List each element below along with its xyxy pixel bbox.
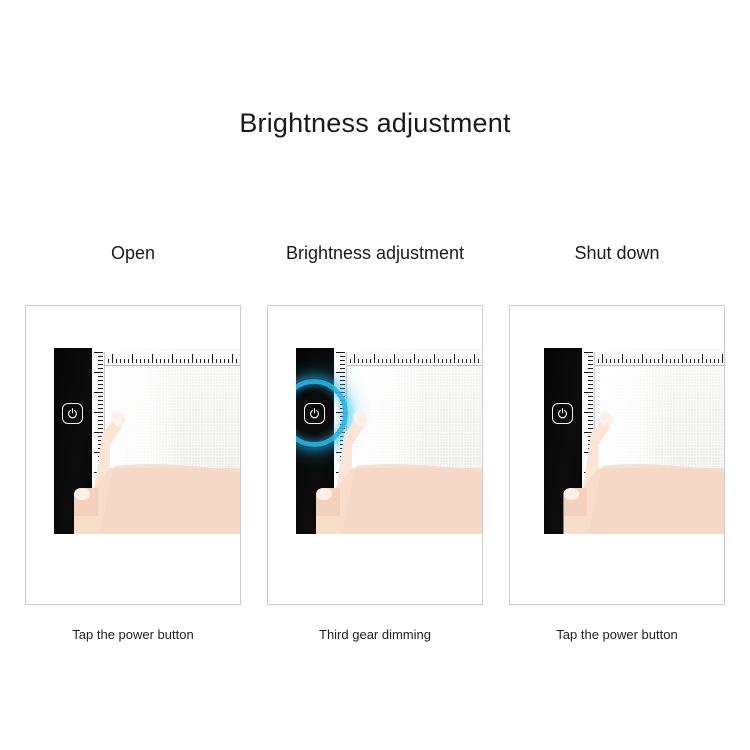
light-pad-surface — [582, 348, 725, 534]
ruler-horizontal — [582, 352, 725, 366]
power-icon — [557, 408, 568, 419]
ruler-vertical — [582, 352, 595, 534]
light-pad-surface — [92, 348, 240, 534]
step-column-brightness: Brightness adjustment — [264, 240, 486, 670]
power-button[interactable] — [552, 403, 573, 424]
step-card[interactable] — [509, 305, 725, 605]
power-button[interactable] — [304, 403, 325, 424]
step-caption: Third gear dimming — [319, 627, 431, 642]
page-title: Brightness adjustment — [0, 108, 750, 139]
ruler-vertical — [334, 352, 347, 534]
steps-row: Open — [0, 240, 750, 670]
ruler-horizontal — [334, 352, 482, 366]
device-bezel — [544, 348, 582, 534]
step-card[interactable] — [25, 305, 241, 605]
step-column-open: Open — [22, 240, 244, 670]
pad-sheen — [334, 348, 426, 534]
pad-sheen — [582, 348, 671, 534]
light-pad-photo — [296, 348, 482, 534]
power-button[interactable] — [62, 403, 83, 424]
step-heading: Open — [111, 240, 155, 266]
step-caption: Tap the power button — [556, 627, 677, 642]
light-pad-photo — [544, 348, 725, 534]
device-bezel — [54, 348, 92, 534]
step-caption: Tap the power button — [72, 627, 193, 642]
step-heading: Shut down — [574, 240, 659, 266]
pad-sheen — [92, 348, 184, 534]
light-pad-surface — [334, 348, 482, 534]
step-column-shutdown: Shut down — [506, 240, 728, 670]
ruler-horizontal — [92, 352, 240, 366]
step-card[interactable] — [267, 305, 483, 605]
power-icon — [67, 408, 78, 419]
ruler-vertical — [92, 352, 105, 534]
light-pad-photo — [54, 348, 240, 534]
power-icon — [309, 408, 320, 419]
device-bezel — [296, 348, 334, 534]
step-heading: Brightness adjustment — [286, 240, 464, 266]
